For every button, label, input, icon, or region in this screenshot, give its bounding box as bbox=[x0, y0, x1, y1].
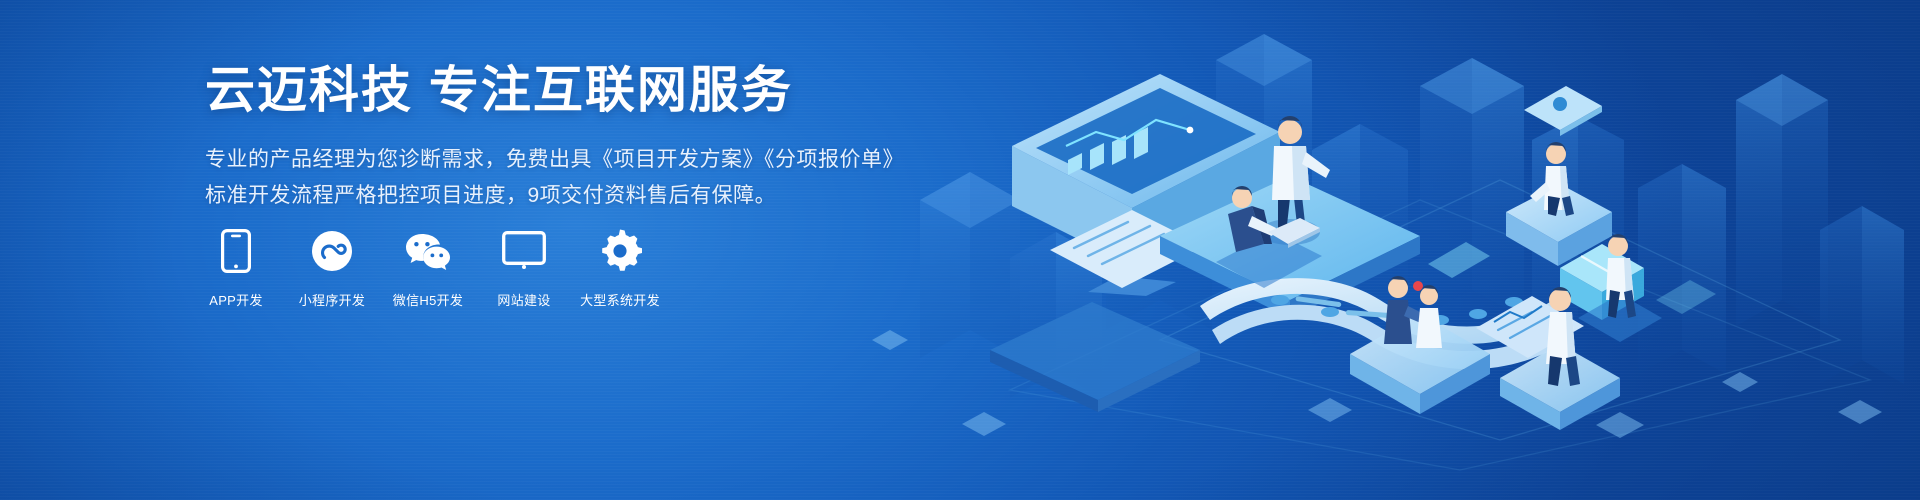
page-title: 云迈科技 专注互联网服务 bbox=[205, 62, 985, 120]
isometric-illustration bbox=[860, 0, 1920, 500]
service-label-wechat: 微信H5开发 bbox=[393, 290, 463, 309]
service-icon-row: APP开发 小程序开发 微信 bbox=[200, 228, 656, 309]
hero-banner: 云迈科技 专注互联网服务 专业的产品经理为您诊断需求，免费出具《项目开发方案》《… bbox=[0, 0, 1920, 500]
service-item-system[interactable]: 大型系统开发 bbox=[584, 228, 656, 309]
service-label-system: 大型系统开发 bbox=[580, 290, 660, 309]
subtitle-line-2: 标准开发流程严格把控项目进度，9项交付资料售后有保障。 bbox=[205, 178, 985, 214]
mini-program-icon bbox=[311, 228, 353, 274]
service-item-wechat[interactable]: 微信H5开发 bbox=[392, 228, 464, 309]
wechat-icon bbox=[404, 228, 452, 274]
service-item-miniprogram[interactable]: 小程序开发 bbox=[296, 228, 368, 309]
monitor-icon bbox=[502, 228, 546, 274]
service-item-app[interactable]: APP开发 bbox=[200, 228, 272, 309]
mobile-phone-icon bbox=[221, 228, 251, 274]
banner-copy: 云迈科技 专注互联网服务 专业的产品经理为您诊断需求，免费出具《项目开发方案》《… bbox=[205, 62, 985, 214]
subtitle-block: 专业的产品经理为您诊断需求，免费出具《项目开发方案》《分项报价单》 标准开发流程… bbox=[205, 142, 985, 214]
service-label-website: 网站建设 bbox=[497, 290, 550, 309]
subtitle-line-1: 专业的产品经理为您诊断需求，免费出具《项目开发方案》《分项报价单》 bbox=[205, 142, 985, 178]
service-item-website[interactable]: 网站建设 bbox=[488, 228, 560, 309]
service-label-miniprogram: 小程序开发 bbox=[299, 290, 366, 309]
service-label-app: APP开发 bbox=[209, 290, 263, 309]
gear-icon bbox=[598, 228, 642, 274]
